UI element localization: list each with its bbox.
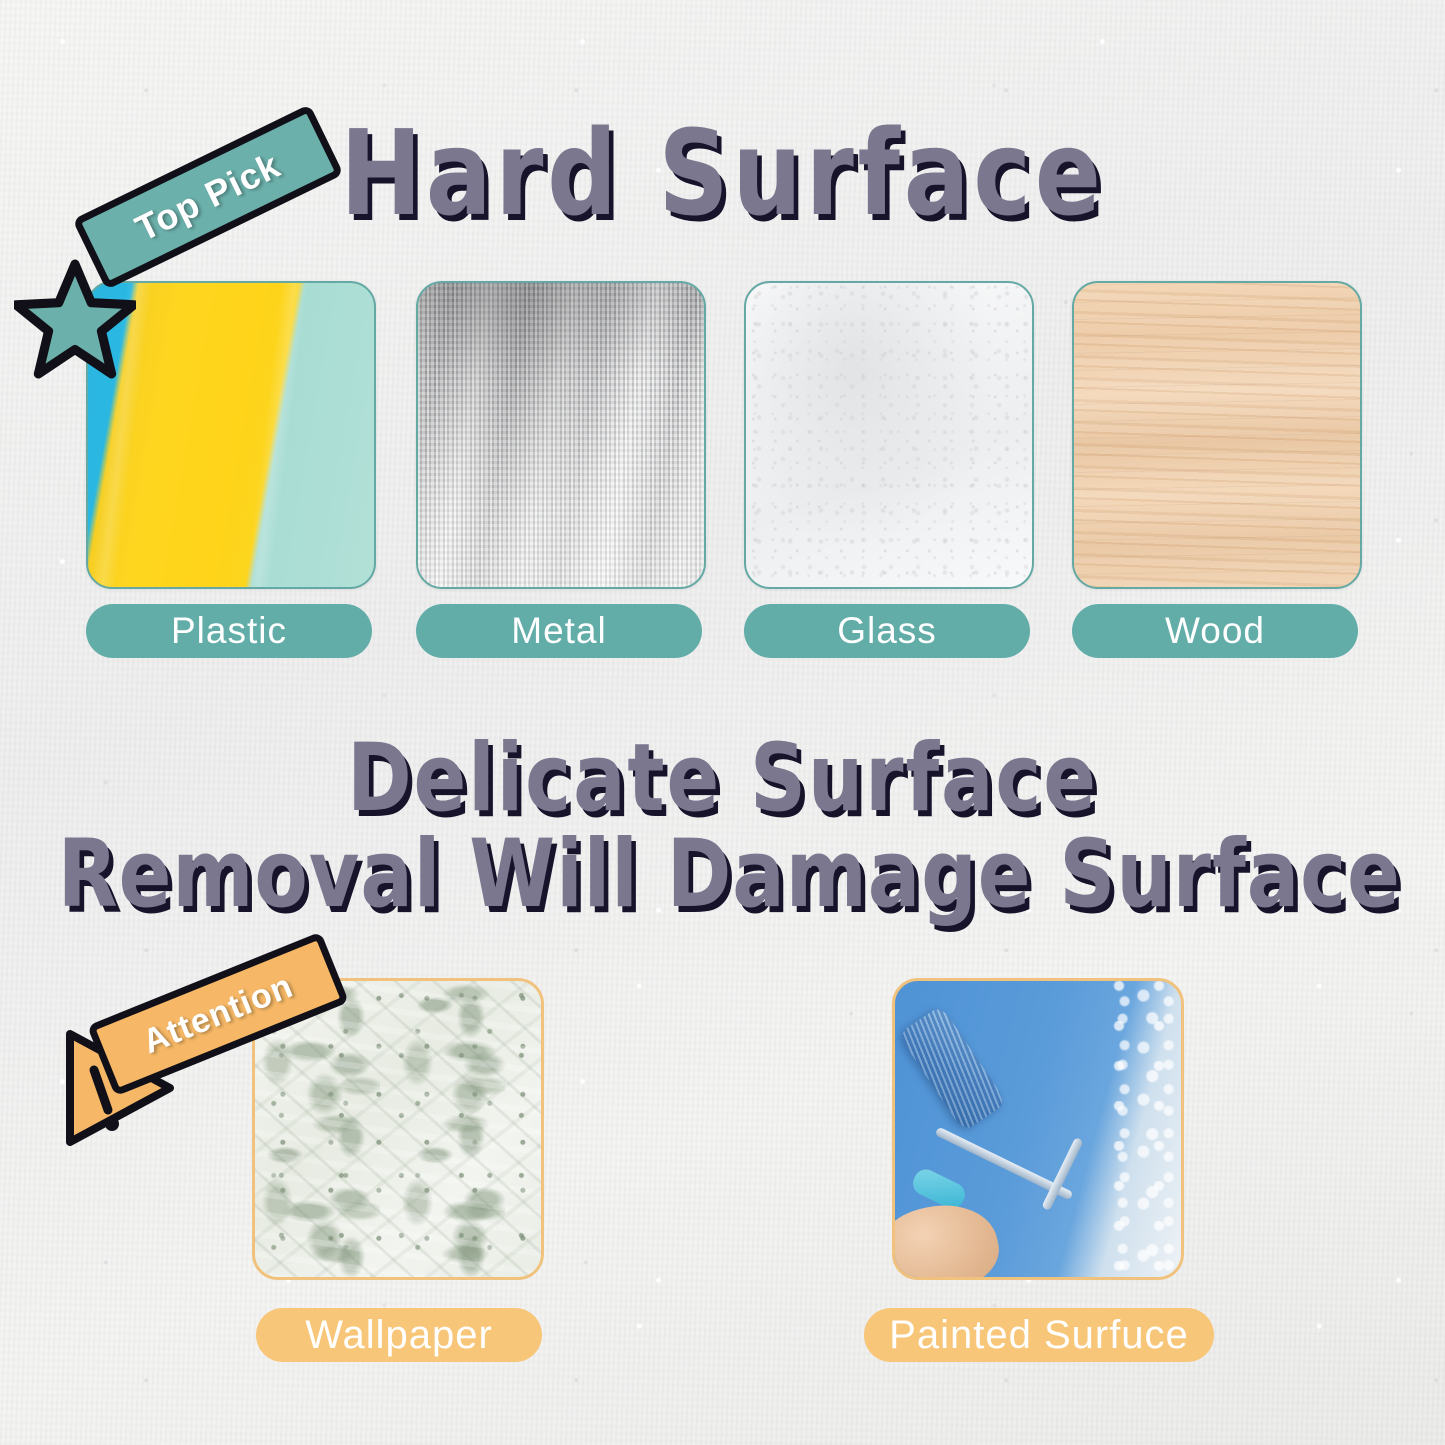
painted-surface-swatch — [892, 978, 1184, 1280]
delicate-surface-title: Delicate Surface — [58, 724, 1387, 833]
roller-handle-arm — [1041, 1137, 1083, 1211]
label-pill-painted-surface: Painted Surfuce — [864, 1308, 1214, 1362]
glass-swatch — [744, 281, 1034, 589]
hand — [892, 1194, 1005, 1280]
paint-roller-icon — [898, 1005, 1007, 1132]
label-pill-wallpaper: Wallpaper — [256, 1308, 542, 1362]
wall-texture — [1107, 981, 1181, 1277]
label-pill-plastic: Plastic — [86, 604, 372, 658]
delicate-surface-subtitle: Removal Will Damage Surface — [58, 820, 1387, 929]
label-pill-glass: Glass — [744, 604, 1030, 658]
label-pill-wood: Wood — [1072, 604, 1358, 658]
label-pill-metal: Metal — [416, 604, 702, 658]
wood-swatch — [1072, 281, 1362, 589]
infographic-page: Hard Surface Top Pick Plastic Metal Glas… — [0, 0, 1445, 1445]
star-icon — [14, 258, 136, 380]
metal-swatch — [416, 281, 706, 589]
